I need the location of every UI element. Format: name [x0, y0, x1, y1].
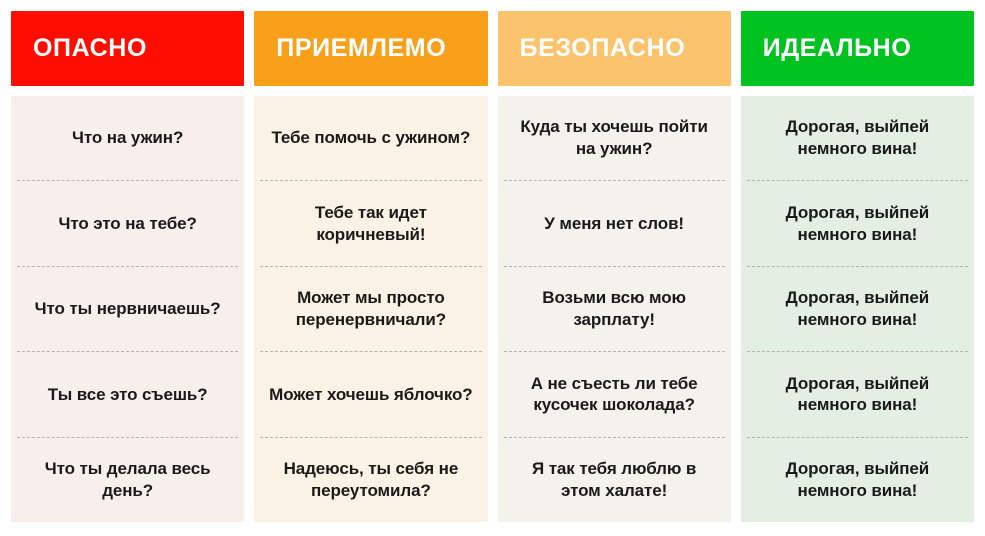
phrase-cell: Куда ты хочешь пойти на ужин?: [504, 96, 725, 180]
column-header-danger: ОПАСНО: [11, 11, 244, 86]
column-acceptable: ПРИЕМЛЕМО Тебе помочь с ужином? Тебе так…: [254, 11, 487, 522]
phrase-cell: Может хочешь яблочко?: [260, 351, 481, 436]
column-safe: БЕЗОПАСНО Куда ты хочешь пойти на ужин? …: [498, 11, 731, 522]
column-body-danger: Что на ужин? Что это на тебе? Что ты нер…: [11, 96, 244, 522]
phrase-cell: Дорогая, выйпей немного вина!: [747, 437, 968, 522]
column-header-label: ИДЕАЛЬНО: [763, 36, 912, 61]
phrase-cell: Что на ужин?: [17, 96, 238, 180]
phrase-text: Дорогая, выйпей немного вина!: [755, 287, 960, 331]
phrase-cell: Может мы просто перенервничали?: [260, 266, 481, 351]
phrase-cell: Я так тебя люблю в этом халате!: [504, 437, 725, 522]
phrase-cell: Что ты делала весь день?: [17, 437, 238, 522]
column-danger: ОПАСНО Что на ужин? Что это на тебе? Что…: [11, 11, 244, 522]
phrase-cell: Тебе помочь с ужином?: [260, 96, 481, 180]
phrase-text: Куда ты хочешь пойти на ужин?: [512, 116, 717, 160]
phrase-text: Ты все это съешь?: [48, 384, 208, 406]
phrase-text: Что ты нервничаешь?: [35, 298, 221, 320]
phrase-cell: Что это на тебе?: [17, 180, 238, 265]
phrase-text: Что это на тебе?: [58, 213, 196, 235]
phrase-cell: Что ты нервничаешь?: [17, 266, 238, 351]
phrase-cell: Ты все это съешь?: [17, 351, 238, 436]
column-header-acceptable: ПРИЕМЛЕМО: [254, 11, 487, 86]
phrase-cell: У меня нет слов!: [504, 180, 725, 265]
column-body-acceptable: Тебе помочь с ужином? Тебе так идет кори…: [254, 96, 487, 522]
phrase-text: Дорогая, выйпей немного вина!: [755, 458, 960, 502]
phrase-text: Я так тебя люблю в этом халате!: [512, 458, 717, 502]
phrase-text: Дорогая, выйпей немного вина!: [755, 373, 960, 417]
phrase-cell: Дорогая, выйпей немного вина!: [747, 180, 968, 265]
phrase-cell: Дорогая, выйпей немного вина!: [747, 266, 968, 351]
phrase-text: Тебе помочь с ужином?: [271, 127, 470, 149]
phrase-cell: Возьми всю мою зарплату!: [504, 266, 725, 351]
column-body-ideal: Дорогая, выйпей немного вина! Дорогая, в…: [741, 96, 974, 522]
column-header-label: БЕЗОПАСНО: [520, 36, 686, 61]
phrase-text: Дорогая, выйпей немного вина!: [755, 202, 960, 246]
column-header-ideal: ИДЕАЛЬНО: [741, 11, 974, 86]
phrase-text: Надеюсь, ты себя не переутомила?: [268, 458, 473, 502]
phrase-matrix-board: ОПАСНО Что на ужин? Что это на тебе? Что…: [0, 0, 985, 536]
phrase-cell: А не съесть ли тебе кусочек шоколада?: [504, 351, 725, 436]
phrase-text: Что на ужин?: [72, 127, 183, 149]
column-header-label: ПРИЕМЛЕМО: [276, 36, 446, 61]
phrase-cell: Надеюсь, ты себя не переутомила?: [260, 437, 481, 522]
phrase-text: Дорогая, выйпей немного вина!: [755, 116, 960, 160]
phrase-text: Может мы просто перенервничали?: [268, 287, 473, 331]
column-body-safe: Куда ты хочешь пойти на ужин? У меня нет…: [498, 96, 731, 522]
phrase-text: Что ты делала весь день?: [25, 458, 230, 502]
phrase-text: Может хочешь яблочко?: [269, 384, 472, 406]
phrase-text: У меня нет слов!: [544, 213, 684, 235]
phrase-cell: Дорогая, выйпей немного вина!: [747, 351, 968, 436]
phrase-cell: Дорогая, выйпей немного вина!: [747, 96, 968, 180]
phrase-text: А не съесть ли тебе кусочек шоколада?: [512, 373, 717, 417]
column-header-safe: БЕЗОПАСНО: [498, 11, 731, 86]
phrase-cell: Тебе так идет коричневый!: [260, 180, 481, 265]
phrase-text: Тебе так идет коричневый!: [268, 202, 473, 246]
column-header-label: ОПАСНО: [33, 36, 147, 61]
column-ideal: ИДЕАЛЬНО Дорогая, выйпей немного вина! Д…: [741, 11, 974, 522]
phrase-text: Возьми всю мою зарплату!: [512, 287, 717, 331]
